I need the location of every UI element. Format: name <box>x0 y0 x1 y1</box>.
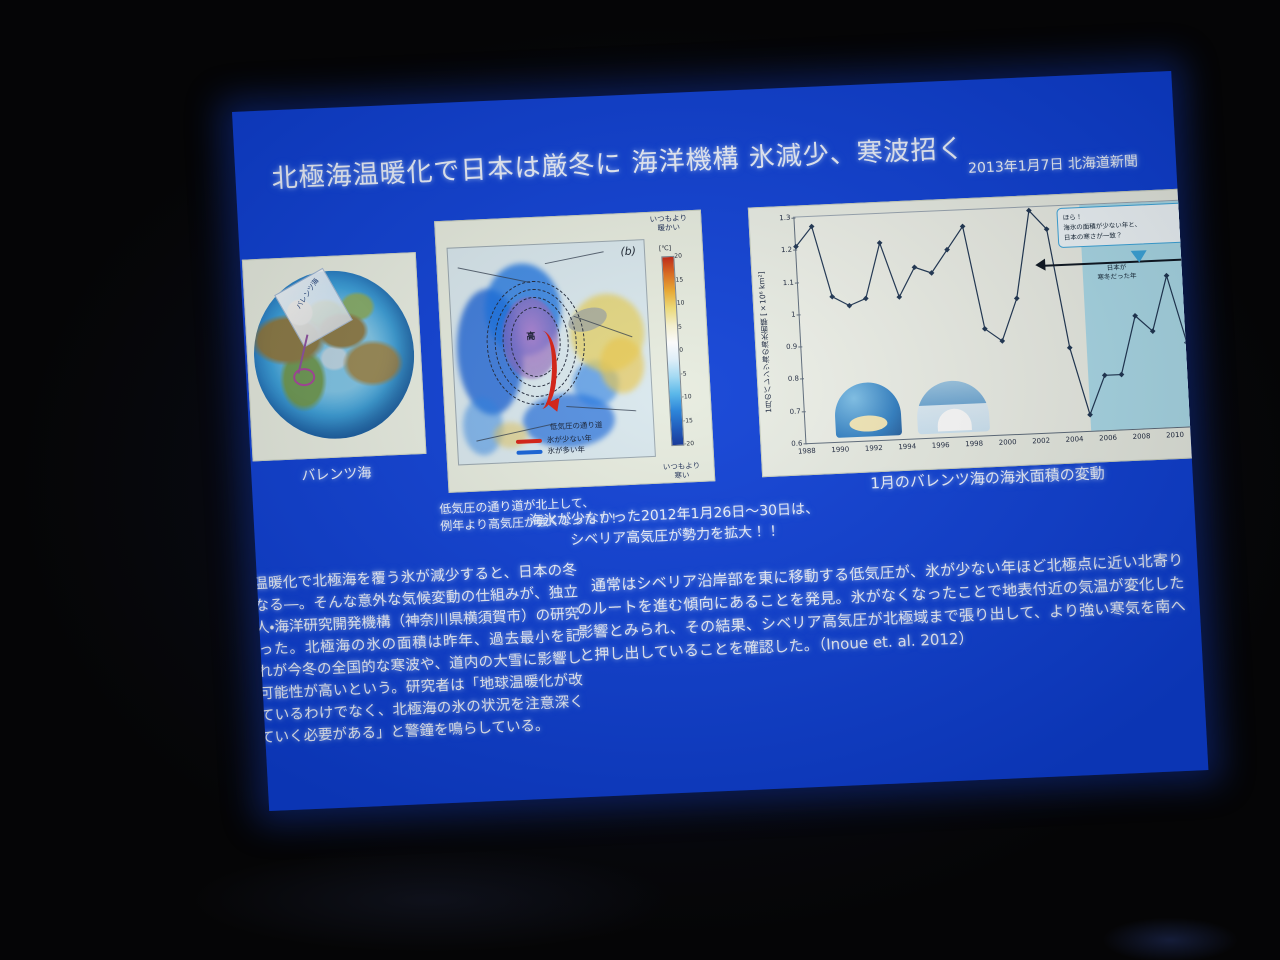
map-legend: 低気圧の通り道 氷が少ない年 氷が多い年 <box>501 417 653 458</box>
colorbar-tick: -15 <box>683 417 693 424</box>
legend-swatch-red <box>516 438 542 443</box>
chart-x-tick: 2004 <box>1065 435 1083 444</box>
body-paragraph-left: 地球温暖化で北極海を覆う氷が減少すると、日本の冬は寒くなる―。そんな意外な気候変… <box>232 559 586 751</box>
map-plot-area: (b) 高 <box>447 239 656 465</box>
chart-y-tick: 1.2 <box>781 246 793 254</box>
chart-x-tick: 1992 <box>865 444 883 453</box>
slide-header: 北極海温暖化で日本は厳冬に 海洋機構 氷減少、寒波招く 2013年1月7日 北海… <box>271 120 1144 195</box>
coastline <box>545 251 604 264</box>
colorbar-unit: [℃] <box>659 244 672 253</box>
chart-plot-area: 1.31.21.110.90.80.70.6 19881990199219941… <box>793 199 1208 444</box>
podium-glow <box>1080 915 1260 960</box>
chart-x-tick: 1996 <box>932 441 950 450</box>
chart-x-tick: 2008 <box>1132 432 1150 441</box>
globe-location-ring <box>293 368 316 387</box>
arctic-globe-graphic: バレンツ海 <box>250 267 419 442</box>
colorbar-warm-note: いつもより暖かい <box>640 213 697 233</box>
globe-caption: バレンツ海 <box>241 460 432 488</box>
colorbar-tick: -5 <box>680 370 686 377</box>
chart-x-tick: 1994 <box>898 442 916 451</box>
colorbar-tick: 5 <box>678 323 682 330</box>
chart-x-tick: 2012 <box>1199 429 1208 438</box>
projected-slide-quad: 北極海温暖化で日本は厳冬に 海洋機構 氷減少、寒波招く 2013年1月7日 北海… <box>232 71 1208 811</box>
chart-x-tick: 2000 <box>999 438 1017 447</box>
colorbar-cold-note: いつもより寒い <box>653 460 710 480</box>
globe-image: バレンツ海 <box>242 252 427 461</box>
colorbar-tick: 0 <box>679 347 683 354</box>
colorbar-tick: -10 <box>682 393 692 400</box>
chart-y-axis-label: 1月のバレンツ海の海氷面積 [×10⁶ km²] <box>752 232 778 452</box>
chart-y-tick: 1.1 <box>783 278 795 286</box>
weather-map-image: いつもより暖かい いつもより寒い (b) <box>434 210 715 493</box>
colorbar-tick: 15 <box>675 276 683 283</box>
globe-callout-box: バレンツ海 <box>274 268 353 348</box>
map-colorbar: [℃] 20151050-5-10-15-20 <box>653 243 706 451</box>
speech-bubble-annotation: ほら！海氷の面積が少ない年と、日本の寒さが一致？ <box>1056 202 1192 248</box>
chart-x-tick: 2002 <box>1032 437 1050 446</box>
sea-ice-line-chart: 1月のバレンツ海の海氷面積 [×10⁶ km²] 1.31.21.110.90.… <box>748 187 1209 477</box>
chart-x-tick: 2006 <box>1099 434 1117 443</box>
globe-callout-label: バレンツ海 <box>285 262 331 325</box>
map-panel-tag: (b) <box>620 245 636 259</box>
colorbar-tick: 20 <box>674 253 682 260</box>
presentation-slide: 北極海温暖化で日本は厳冬に 海洋機構 氷減少、寒波招く 2013年1月7日 北海… <box>232 71 1208 811</box>
chart-x-tick: 1988 <box>798 447 816 456</box>
chart-y-tick: 0.8 <box>788 375 800 383</box>
room-floor-glow <box>120 840 740 960</box>
chart-x-tick: 1998 <box>965 440 983 449</box>
chart-y-tick: 1.3 <box>779 214 791 222</box>
legend-label-high-ice: 氷が多い年 <box>547 444 585 457</box>
chart-y-tick: 0.9 <box>786 343 798 351</box>
chart-y-tick: 1 <box>791 310 796 318</box>
legend-swatch-blue <box>516 449 542 454</box>
span-arrowhead-right <box>1183 252 1194 264</box>
photo-scene: 北極海温暖化で日本は厳冬に 海洋機構 氷減少、寒波招く 2013年1月7日 北海… <box>0 0 1280 960</box>
colorbar-tick: 10 <box>677 299 685 306</box>
chart-y-tick: 0.7 <box>789 407 801 415</box>
chart-x-tick: 1990 <box>831 445 849 454</box>
speech-bubble-tail <box>1131 250 1148 263</box>
chart-x-tick: 2010 <box>1166 431 1184 440</box>
colorbar-tick: -20 <box>684 440 694 447</box>
body-paragraph-right: 通常はシベリア沿岸部を東に移動する低気圧が、氷が少ない年ほど北極点に近い北寄りの… <box>575 549 1187 667</box>
